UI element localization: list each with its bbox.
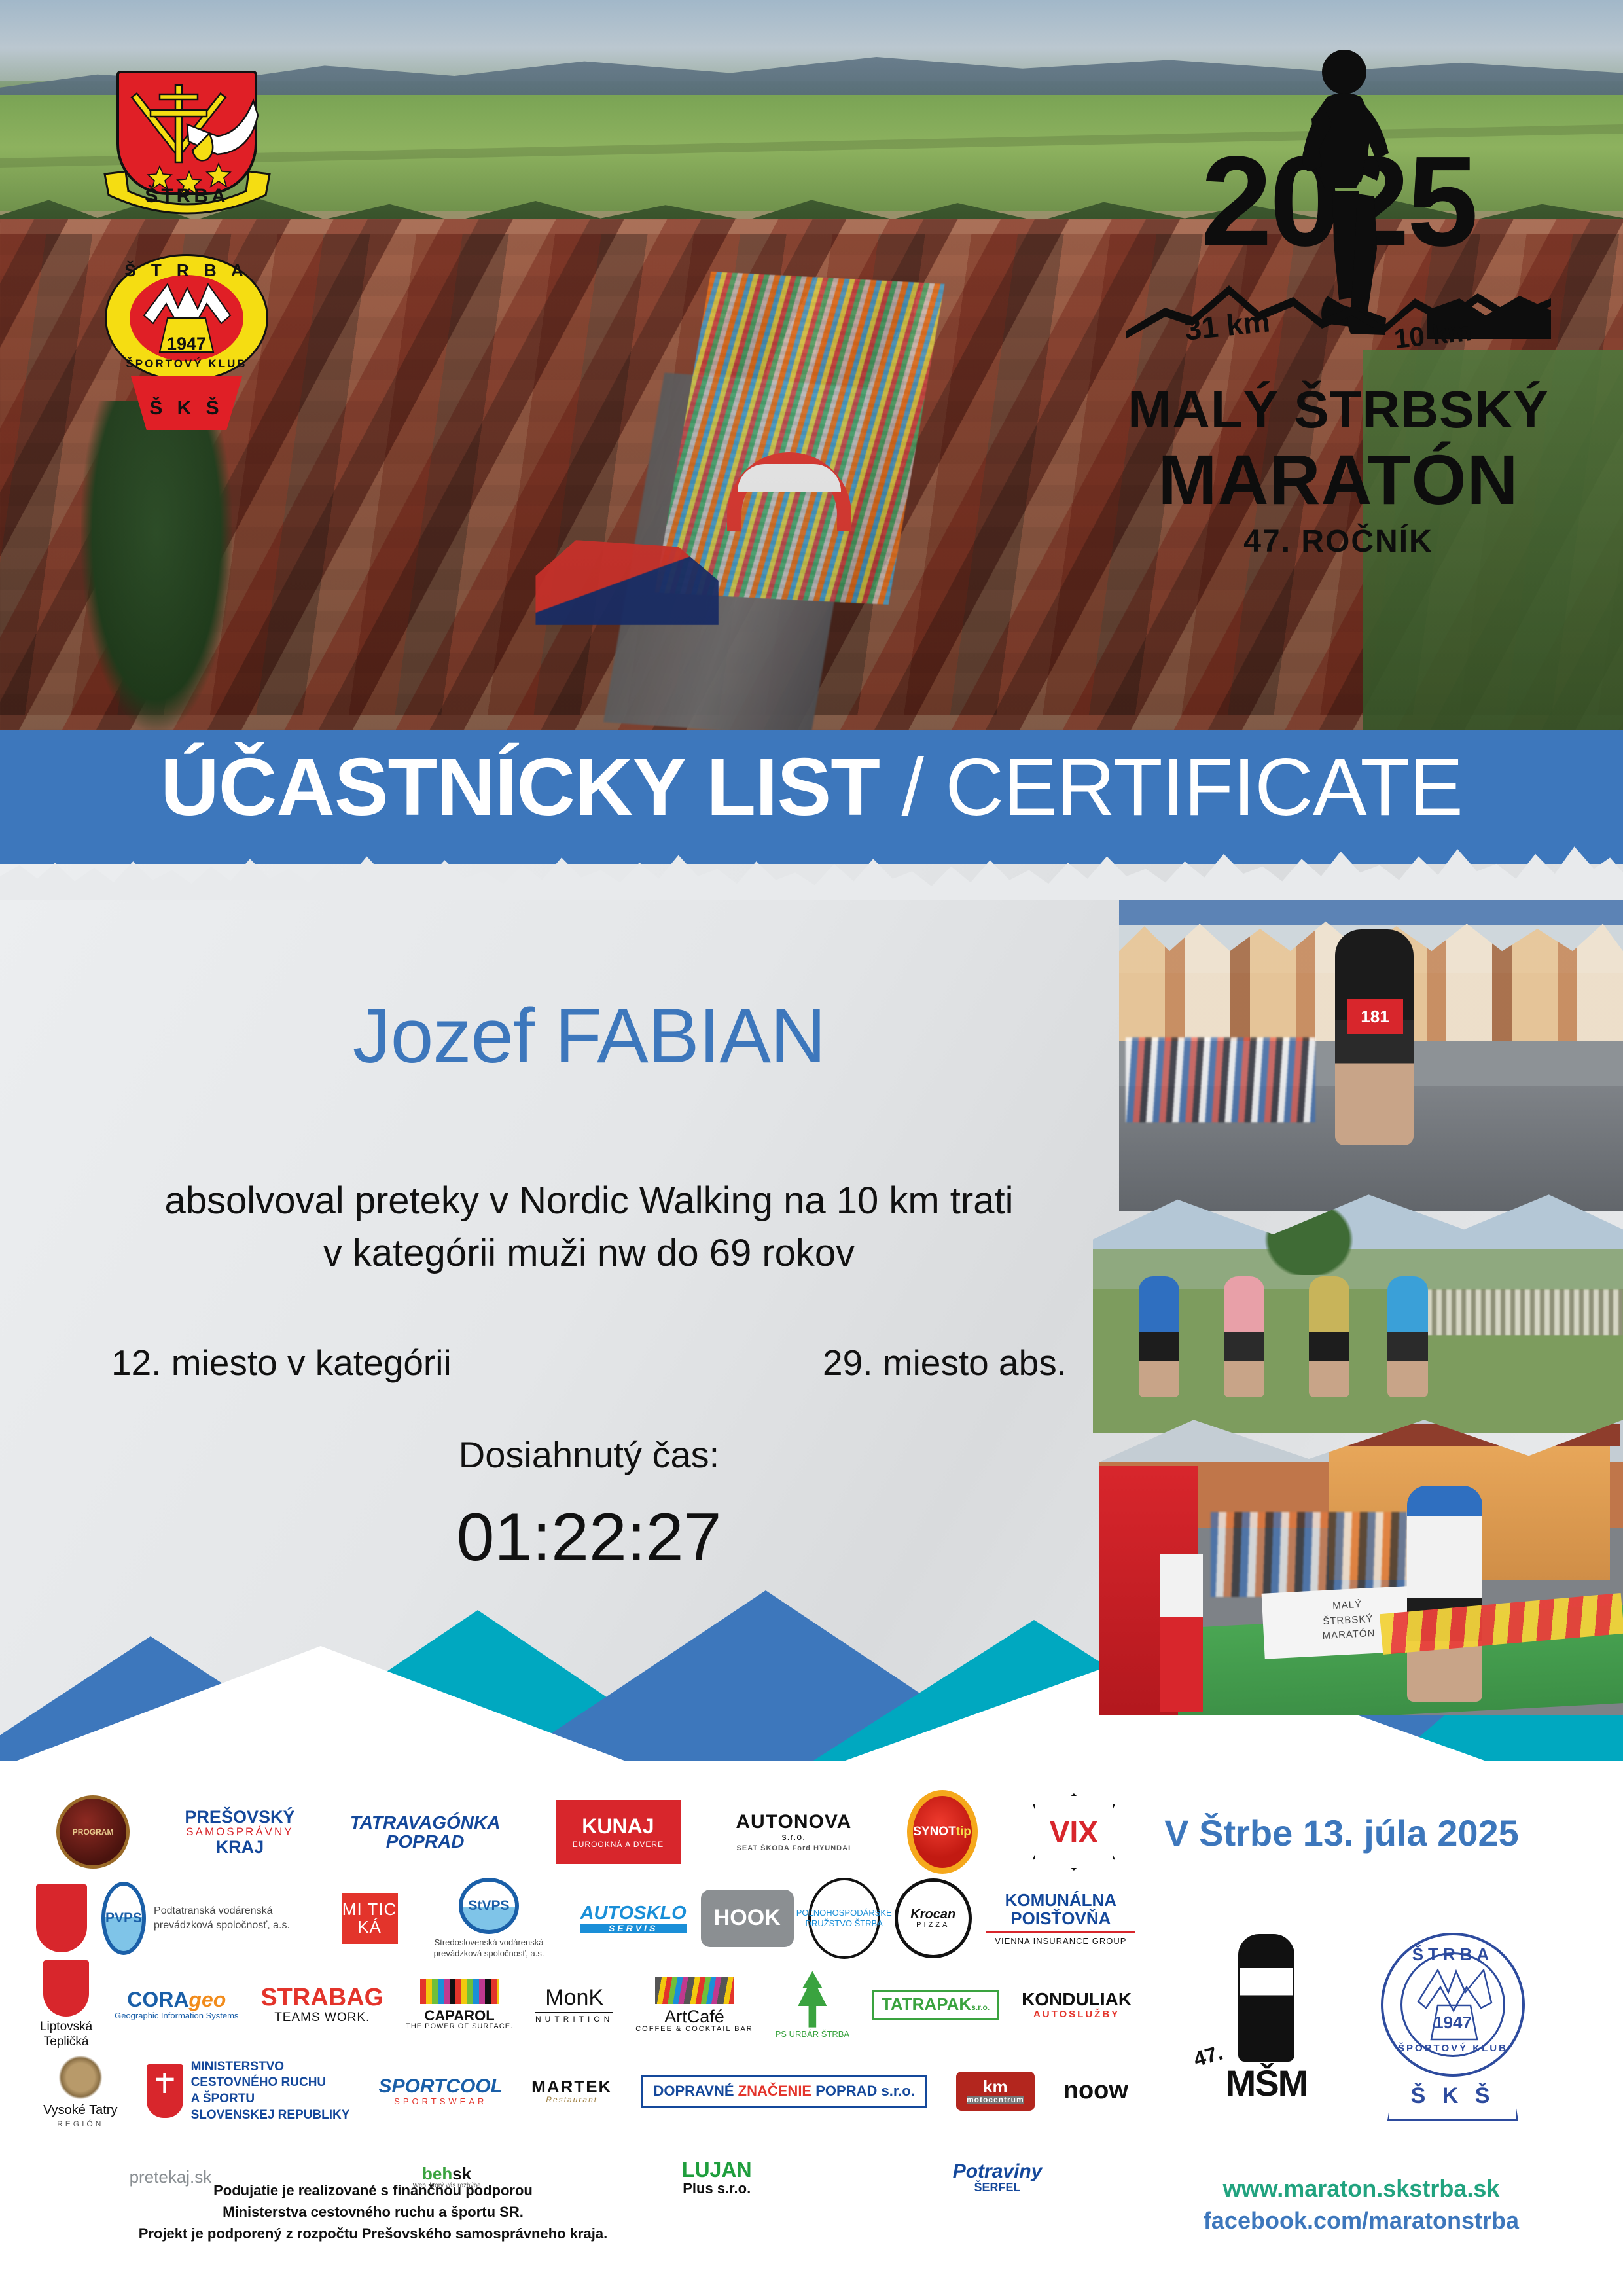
presov-line3: KRAJ: [185, 1838, 294, 1856]
strba-erb-shield: [36, 1884, 87, 1952]
tatrapak-line1: TATRAPAK: [882, 1994, 971, 2014]
strabag-line1: STRABAG: [260, 1984, 383, 2011]
club-seal-top-text: ŠTRBA: [1361, 1945, 1544, 1965]
strabag-line2: TEAMS WORK.: [260, 2011, 383, 2024]
sponsor-logo-tatravagonka[interactable]: TATRAVAGÓNKA POPRAD: [330, 1793, 521, 1871]
tatrapak-line2: s.r.o.: [971, 2003, 990, 2012]
club-logo-bottom-text: ŠPORTOVÝ KLUB: [105, 357, 268, 370]
sponsor-logo-miticka[interactable]: MI TIC KÁ: [342, 1880, 398, 1957]
dopravne-line1: DOPRAVNÉ: [653, 2083, 734, 2099]
presov-line2: SAMOSPRÁVNY: [185, 1826, 294, 1838]
photo1-bib-number: 181: [1347, 999, 1403, 1034]
sks-club-logo: Š T R B A 1947 ŠPORTOVÝ KLUB Š K Š: [105, 242, 268, 432]
banner-separator: /: [880, 742, 945, 833]
ministerstvo-line4: SLOVENSKEJ REPUBLIKY: [191, 2108, 350, 2124]
banner-title: ÚČASTNÍCKY LIST / CERTIFICATE: [0, 747, 1623, 828]
photo2-runner-1: [1139, 1276, 1179, 1397]
tatravagonka-line1: TATRAVAGÓNKA: [350, 1813, 501, 1832]
contact-links: www.maraton.skstrba.sk facebook.com/mara…: [1139, 2173, 1584, 2236]
club-seal-year: 1947: [1361, 2013, 1544, 2033]
certificate-banner: ÚČASTNÍCKY LIST / CERTIFICATE: [0, 730, 1623, 864]
photo2-runner-2: [1224, 1276, 1264, 1397]
sponsor-logo-dopravne-znacenie[interactable]: DOPRAVNÉ ZNAČENIE POPRAD s.r.o.: [633, 2053, 934, 2130]
photo1-runner: [1335, 929, 1414, 1145]
club-seal-abbr: Š K Š: [1361, 2083, 1544, 2109]
vysoke-tatry-line2: REGIÓN: [57, 2120, 103, 2128]
sponsor-row-1: PROGRAM PREŠOVSKÝ SAMOSPRÁVNY KRAJ TATRA…: [36, 1793, 1135, 1871]
dopravne-line3: POPRAD s.r.o.: [815, 2083, 915, 2099]
liptovska-line1: Liptovská: [40, 2020, 92, 2035]
potraviny-line1: Potraviny: [953, 2161, 1043, 2182]
sponsor-logo-vix[interactable]: VIX: [1012, 1793, 1135, 1871]
km-line2: motocentrum: [967, 2096, 1024, 2104]
placement-row: 12. miesto v kategórii 29. miesto abs.: [79, 1342, 1099, 1384]
hook-label: HOOK: [701, 1890, 794, 1947]
slovak-emblem-icon: [147, 2064, 183, 2118]
dopravne-line2: ZNAČENIE: [738, 2083, 811, 2099]
sponsor-logo-liptovska-teplicka[interactable]: Liptovská Tepličká: [36, 1966, 96, 2043]
sponsor-logo-ministerstvo[interactable]: MINISTERSTVO CESTOVNÉHO RUCHU A ŠPORTU S…: [139, 2053, 357, 2130]
sponsor-logo-km-motocentrum[interactable]: km motocentrum: [949, 2053, 1042, 2130]
km-line1: km: [983, 2077, 1008, 2096]
sponsor-logo-krocan[interactable]: Krocan PIZZA: [895, 1880, 972, 1957]
autosklo-line1: AUTOSKLO: [580, 1903, 687, 1924]
cora-line2: geo: [188, 1988, 226, 2011]
sponsor-logo-artcafe[interactable]: ArtCafé COFFEE & COCKTAIL BAR: [632, 1966, 757, 2043]
sponsor-logo-program[interactable]: PROGRAM: [36, 1793, 150, 1871]
stvps-fullname: Stredoslovenská vodárenská prevádzková s…: [412, 1937, 566, 1960]
photo-finisher-female: 181: [1119, 870, 1623, 1211]
autonova-brands: SEAT ŠKODA Ford HYUNDAI: [736, 1845, 851, 1853]
finish-time-label: Dosiahnutý čas:: [79, 1433, 1099, 1476]
legal-line3: Projekt je podporený z rozpočtu Prešovsk…: [39, 2223, 707, 2244]
liptovska-line2: Tepličká: [40, 2035, 92, 2050]
cora-line1: CORA: [127, 1988, 188, 2011]
event-logo: 2025 31 km 10 km MALÝ ŠTRBSKÝ MARATÓN 47…: [1113, 39, 1564, 615]
description-line2: v kategórii muži nw do 69 rokov: [65, 1227, 1113, 1280]
date-and-place: V Štrbe 13. júla 2025: [1126, 1812, 1558, 1854]
club-seal-inner-ring: [1400, 1952, 1505, 2057]
club-logo-top-text: Š T R B A: [105, 260, 268, 281]
banner-title-sk: ÚČASTNÍCKY LIST: [160, 742, 880, 833]
martek-line2: Restaurant: [531, 2096, 612, 2104]
pd-strba-label: POĽNOHOSPODÁRSKE DRUŽSTVO ŠTRBA: [808, 1878, 880, 1959]
photo2-runner-3: [1309, 1276, 1349, 1397]
photo3-winner: [1407, 1486, 1482, 1702]
kunaj-line2: EUROOKNÁ A DVERE: [573, 1840, 664, 1849]
website-url[interactable]: www.maraton.skstrba.sk: [1139, 2173, 1584, 2205]
vysoke-tatry-line1: Vysoké Tatry: [43, 2104, 117, 2117]
distance-ridge-graphic: 31 km 10 km: [1119, 268, 1558, 347]
komunalna-line2: VIENNA INSURANCE GROUP: [986, 1931, 1135, 1946]
artcafe-line1: ArtCafé: [664, 2007, 724, 2026]
presov-line1: PREŠOVSKÝ: [185, 1808, 294, 1826]
sponsor-logo-strabag[interactable]: STRABAG TEAMS WORK.: [257, 1966, 387, 2043]
coat-of-arms-label: ŠTRBA: [116, 185, 257, 207]
sponsor-logo-presovsky-kraj[interactable]: PREŠOVSKÝ SAMOSPRÁVNY KRAJ: [164, 1793, 315, 1871]
sportcool-line1: SPORTCOOL: [379, 2075, 503, 2097]
sponsor-logo-strba-erb[interactable]: [36, 1880, 87, 1957]
sponsor-logo-konduliak[interactable]: KONDULIAK AUTOSLUŽBY: [1018, 1966, 1135, 2043]
sponsor-logo-grid: PROGRAM PREŠOVSKÝ SAMOSPRÁVNY KRAJ TATRA…: [36, 1793, 1135, 2225]
event-title-line1: MALÝ ŠTRBSKÝ: [1113, 380, 1564, 440]
msm-runner-icon: [1238, 1934, 1294, 2062]
krocan-line2: PIZZA: [916, 1922, 950, 1929]
urbar-line1: PS URBÁR: [776, 2029, 819, 2039]
sponsor-logo-autosklo[interactable]: AUTOSKLO SERVIS: [580, 1880, 687, 1957]
martek-line1: MARTEK: [531, 2077, 612, 2096]
komunalna-line1: KOMUNÁLNA POISŤOVŇA: [1005, 1890, 1116, 1929]
potraviny-line2: ŠERFEL: [953, 2181, 1043, 2194]
seal-mountain-icon: [1402, 1954, 1503, 2055]
stvps-mark: StVPS: [459, 1878, 519, 1934]
msm-logo: 47. MŠM: [1191, 1928, 1342, 2124]
place-absolute: 29. miesto abs.: [823, 1342, 1067, 1384]
pine-tree-icon: [793, 1971, 831, 2028]
msm-abbr: MŠM: [1191, 2062, 1342, 2104]
photo3-crowd: [1211, 1512, 1420, 1597]
sponsor-logo-tatrapak[interactable]: TATRAPAKs.r.o.: [868, 1966, 1003, 2043]
participant-last-name: FABIAN: [555, 993, 826, 1079]
artcafe-stripes-icon: [655, 1977, 734, 2004]
krocan-line1: Krocan: [910, 1908, 955, 1922]
sponsor-logo-sportcool[interactable]: SPORTCOOL SPORTSWEAR: [371, 2053, 510, 2130]
sponsor-logo-autonova[interactable]: AUTONOVA s.r.o. SEAT ŠKODA Ford HYUNDAI: [715, 1793, 872, 1871]
finish-time-value: 01:22:27: [79, 1499, 1099, 1577]
urbar-line2: ŠTRBA: [821, 2029, 849, 2039]
edelweiss-icon: [54, 2054, 107, 2101]
sponsor-logo-ps-urbar[interactable]: PS URBÁR ŠTRBA: [772, 1966, 853, 2043]
club-seal-middle-text: ŠPORTOVÝ KLUB: [1361, 2043, 1544, 2054]
photo-collage: 181 MALÝ ŠTRBSKÝ MARATÓN: [1093, 870, 1623, 1715]
sponsor-logo-pvps[interactable]: PVPS Podtatranská vodárenská prevádzková…: [101, 1880, 327, 1957]
event-edition: 47. ROČNÍK: [1113, 524, 1564, 560]
pvps-mark: PVPS: [101, 1882, 146, 1955]
monk-line2: NUTRITION: [535, 2012, 613, 2024]
sponsor-logo-monk[interactable]: MonK NUTRITION: [531, 1966, 617, 2043]
noow-label: noow: [1063, 2078, 1128, 2104]
participation-description: absolvoval preteky v Nordic Walking na 1…: [65, 1175, 1113, 1280]
photo2-valley-town: [1407, 1289, 1623, 1335]
description-line1: absolvoval preteky v Nordic Walking na 1…: [65, 1175, 1113, 1227]
sponsor-logo-komunalna[interactable]: KOMUNÁLNA POISŤOVŇA VIENNA INSURANCE GRO…: [986, 1880, 1135, 1957]
program-trencin-logo-text: PROGRAM: [56, 1795, 130, 1869]
synot-line1: SYNOT: [913, 1825, 955, 1839]
place-in-category: 12. miesto v kategórii: [111, 1342, 452, 1384]
event-title-line2: MARATÓN: [1113, 439, 1564, 520]
sponsor-logo-kunaj[interactable]: KUNAJ EUROOKNÁ A DVERE: [535, 1793, 702, 1871]
photo3-folk-girl: [1160, 1554, 1203, 1712]
vix-label: VIX: [1033, 1793, 1115, 1871]
club-seal: ŠTRBA 1947 ŠPORTOVÝ KLUB Š K Š: [1361, 1921, 1544, 2130]
club-logo-abbr: Š K Š: [131, 397, 242, 420]
liptovska-shield: [43, 1960, 89, 2017]
sponsor-logo-hook[interactable]: HOOK: [701, 1880, 794, 1957]
sportcool-line2: SPORTSWEAR: [379, 2097, 503, 2106]
tatravagonka-line2: POPRAD: [350, 1832, 501, 1851]
sponsor-logo-vysoke-tatry[interactable]: Vysoké Tatry REGIÓN: [36, 2053, 125, 2130]
sponsor-footer: V Štrbe 13. júla 2025 PROGRAM PREŠOVSKÝ …: [0, 1761, 1623, 2296]
pvps-fullname: Podtatranská vodárenská prevádzková spol…: [154, 1904, 327, 1932]
sponsor-logo-martek[interactable]: MARTEK Restaurant: [524, 2053, 619, 2130]
caparol-elephant-icon: [420, 1979, 499, 2004]
sponsor-logo-synottip[interactable]: SYNOTtip: [886, 1793, 997, 1871]
autosklo-line2: SERVIS: [580, 1924, 687, 1933]
lujan-line1: LUJAN: [682, 2158, 752, 2181]
ministerstvo-line1: MINISTERSTVO: [191, 2059, 350, 2075]
autonova-line1: AUTONOVA: [736, 1811, 851, 1833]
sponsor-row-3: Liptovská Tepličká CORAgeo Geographic In…: [36, 1966, 1135, 2043]
sponsor-logo-noow[interactable]: noow: [1056, 2053, 1135, 2130]
sponsor-logo-potraviny-serfel[interactable]: Potraviny ŠERFEL: [859, 2139, 1135, 2216]
participant-name: Jozef FABIAN: [79, 992, 1099, 1081]
miticka-label: MI TIC KÁ: [342, 1893, 398, 1945]
ministerstvo-line3: A ŠPORTU: [191, 2091, 350, 2108]
photo-finish-line: MALÝ ŠTRBSKÝ MARATÓN: [1099, 1414, 1623, 1715]
club-logo-year: 1947: [105, 334, 268, 354]
legal-line1: Podujatie je realizované s finančnou pod…: [39, 2179, 707, 2201]
photo2-runner-4: [1387, 1276, 1428, 1397]
sponsor-logo-corageo[interactable]: CORAgeo Geographic Information Systems: [111, 1966, 242, 2043]
konduliak-line1: KONDULIAK: [1022, 1989, 1132, 2009]
kunaj-line1: KUNAJ: [582, 1814, 654, 1838]
artcafe-line2: COFFEE & COCKTAIL BAR: [635, 2026, 753, 2034]
club-logo-banner: Š K Š: [131, 376, 242, 430]
sponsor-logo-stvps[interactable]: StVPS Stredoslovenská vodárenská prevádz…: [412, 1880, 566, 1957]
funding-disclaimer: Podujatie je realizované s finančnou pod…: [39, 2179, 707, 2244]
sponsor-row-4: Vysoké Tatry REGIÓN MINISTERSTVO CESTOVN…: [36, 2053, 1135, 2130]
strba-coat-of-arms: ŠTRBA: [116, 71, 257, 231]
sponsor-logo-caparol[interactable]: CAPAROL THE POWER OF SURFACE.: [402, 1966, 517, 2043]
synot-line2: tip: [956, 1825, 971, 1839]
konduliak-line2: AUTOSLUŽBY: [1022, 2009, 1132, 2020]
participant-first-name: Jozef: [353, 993, 534, 1079]
sponsor-row-2: PVPS Podtatranská vodárenská prevádzková…: [36, 1880, 1135, 1957]
autonova-line2: s.r.o.: [736, 1832, 851, 1842]
legal-line2: Ministerstva cestovného ruchu a športu S…: [39, 2201, 707, 2223]
photo1-spectators: [1126, 1037, 1315, 1122]
monk-line1: MonK: [545, 1985, 603, 2010]
banner-title-en: CERTIFICATE: [945, 742, 1462, 833]
caparol-line2: THE POWER OF SURFACE.: [406, 2023, 513, 2031]
facebook-url[interactable]: facebook.com/maratonstrba: [1139, 2205, 1584, 2237]
ministerstvo-line2: CESTOVNÉHO RUCHU: [191, 2075, 350, 2091]
sponsor-logo-pd-strba[interactable]: POĽNOHOSPODÁRSKE DRUŽSTVO ŠTRBA: [808, 1880, 880, 1957]
photo-runners-meadow: [1093, 1185, 1623, 1433]
caparol-line1: CAPAROL: [425, 2007, 495, 2024]
cora-line3: Geographic Information Systems: [115, 2011, 238, 2020]
